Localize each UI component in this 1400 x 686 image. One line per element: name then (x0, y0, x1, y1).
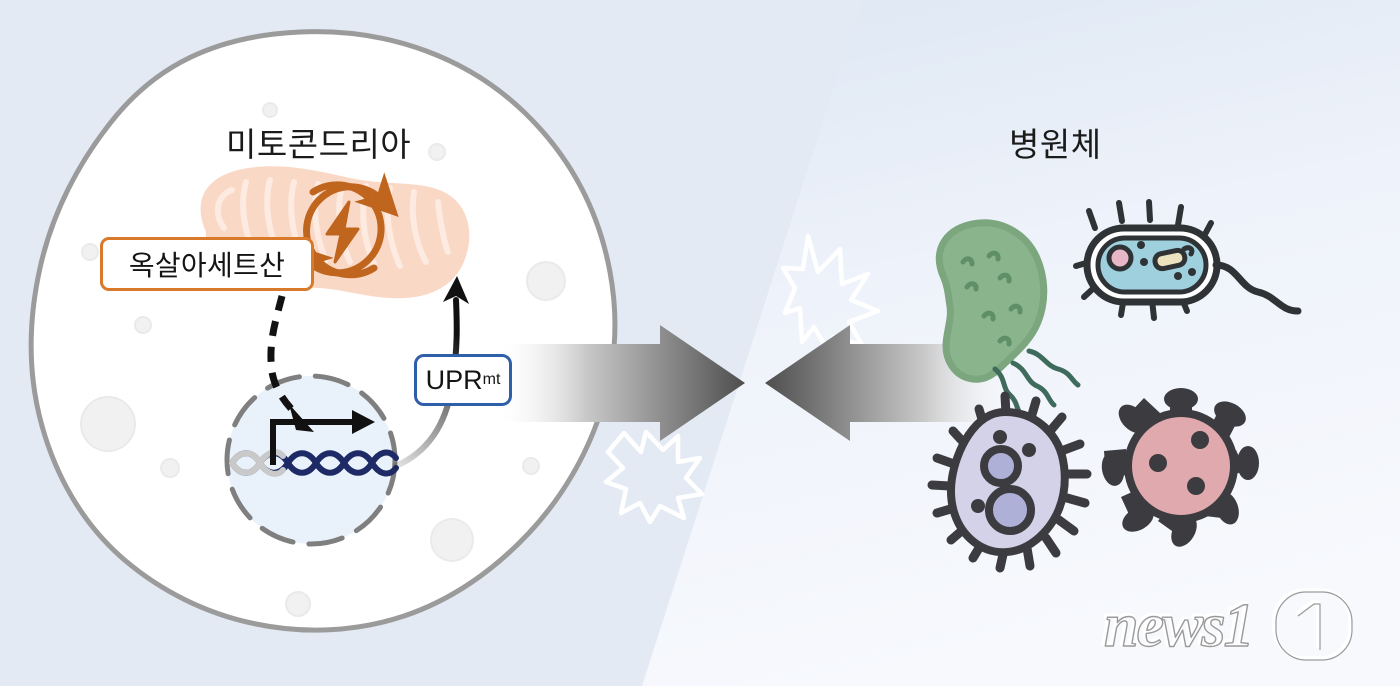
news1-wordmark-shadow: news1 (1104, 592, 1252, 660)
page-title-pathogen: 병원체 (1009, 118, 1102, 166)
blue-bacterium-nucleoid (1109, 247, 1131, 269)
oxaloacetate-label-text: 옥살아세트산 (129, 244, 285, 284)
nucleus (227, 376, 396, 544)
virus-capsid (1128, 413, 1234, 519)
protozoan-vacuole-upper (984, 449, 1018, 483)
diagram-canvas: 미토콘드리아 병원체 옥살아세트산 UPRmt news1 news1 (0, 0, 1400, 686)
news1-logo: news1 news1 (1096, 584, 1358, 664)
blue-bacterium-plasmid (1154, 249, 1186, 270)
uprmt-label-superscript: mt (483, 371, 501, 389)
page-title-mitochondria: 미토콘드리아 (226, 118, 411, 166)
oxaloacetate-label: 옥살아세트산 (100, 237, 314, 291)
uprmt-label: UPRmt (414, 354, 512, 406)
uprmt-label-text: UPR (426, 365, 483, 396)
protozoan-vacuole-lower (989, 489, 1031, 531)
